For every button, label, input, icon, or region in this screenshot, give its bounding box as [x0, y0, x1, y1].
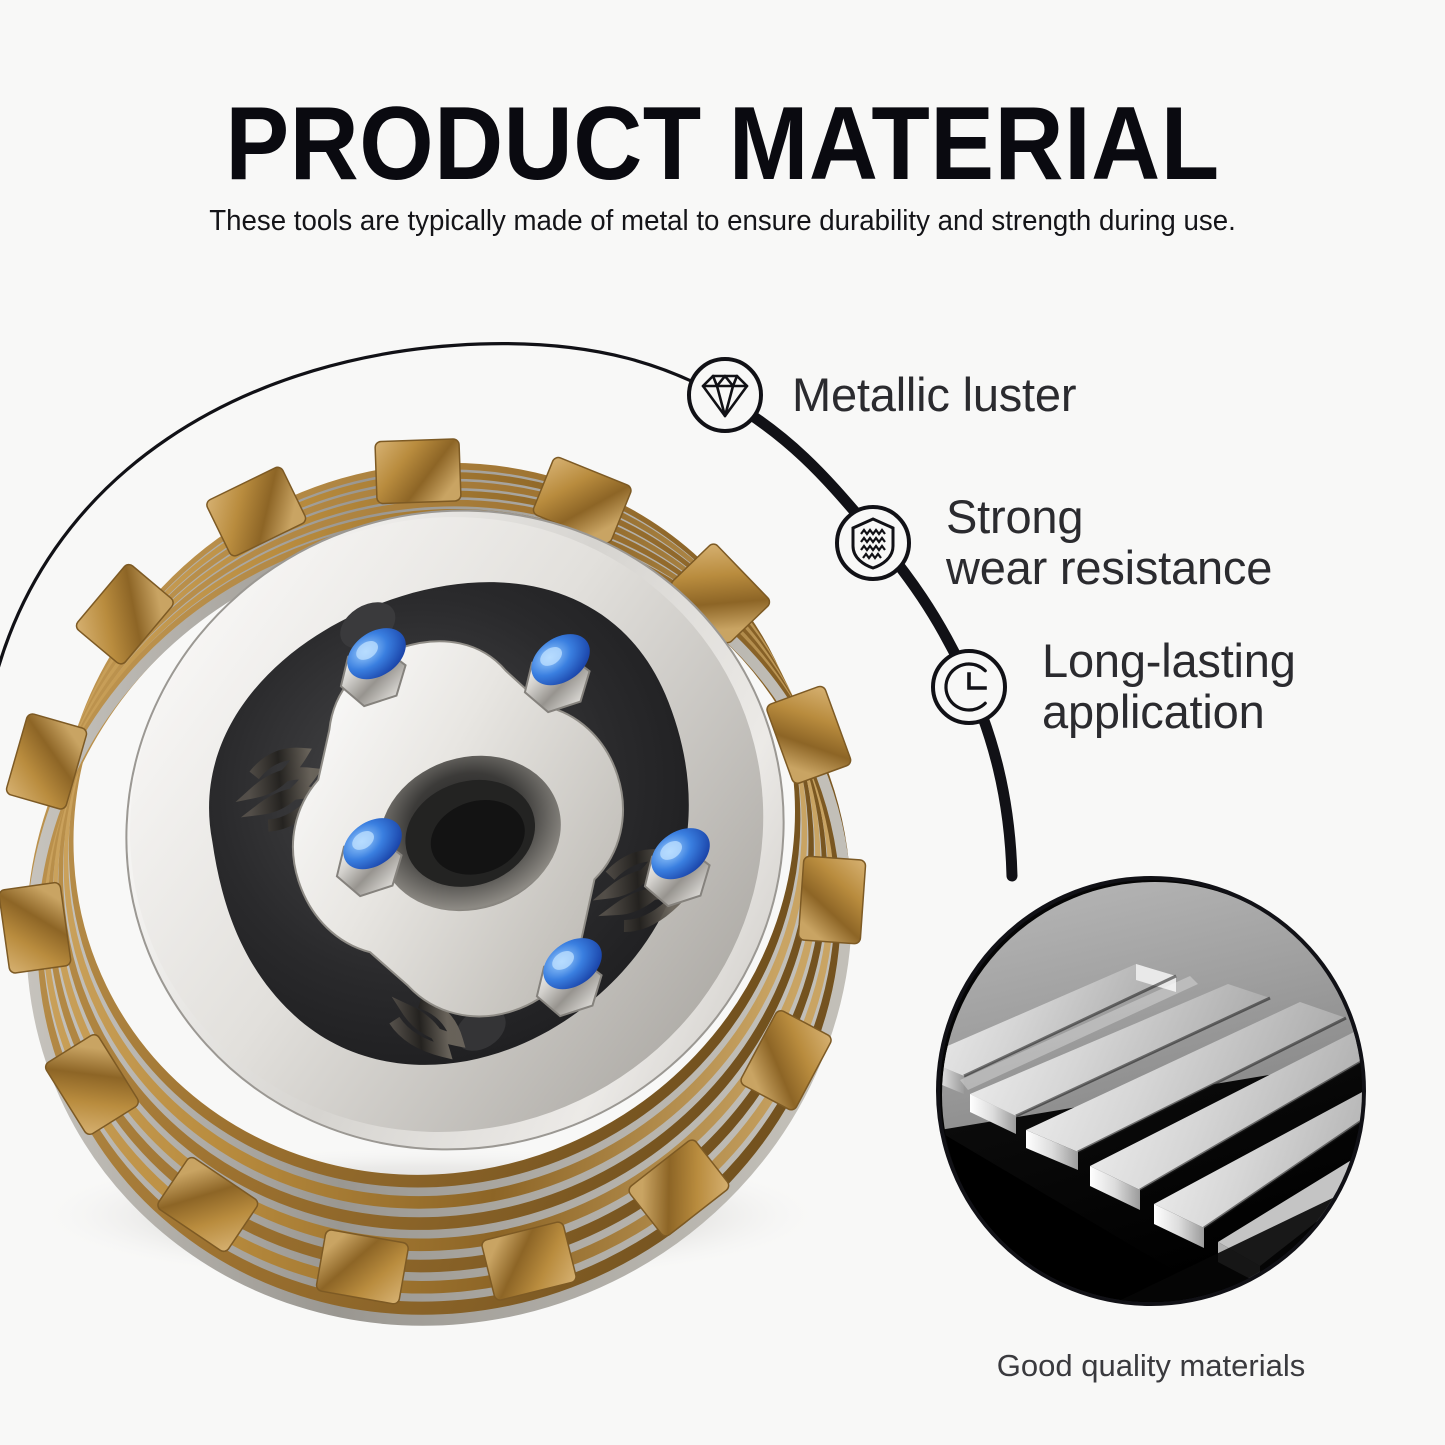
- metal-sheets-photo: [940, 880, 1366, 1306]
- feature-label: Long-lasting application: [1042, 636, 1296, 738]
- feature-item-long-lasting[interactable]: Long-lasting application: [930, 636, 1296, 738]
- feature-label: Strong wear resistance: [946, 492, 1272, 594]
- feature-item-metallic-luster[interactable]: Metallic luster: [686, 356, 1076, 434]
- inset-detail[interactable]: [936, 876, 1366, 1306]
- inset-circle-frame: [936, 876, 1366, 1306]
- feature-item-wear-resistance[interactable]: Strong wear resistance: [834, 492, 1272, 594]
- feature-label: Metallic luster: [792, 370, 1076, 421]
- inset-caption: Good quality materials: [936, 1348, 1366, 1384]
- clock-icon: [930, 648, 1008, 726]
- diamond-icon: [686, 356, 764, 434]
- shield-wave-icon: [834, 504, 912, 582]
- product-material-infographic: PRODUCT MATERIAL These tools are typical…: [0, 0, 1445, 1445]
